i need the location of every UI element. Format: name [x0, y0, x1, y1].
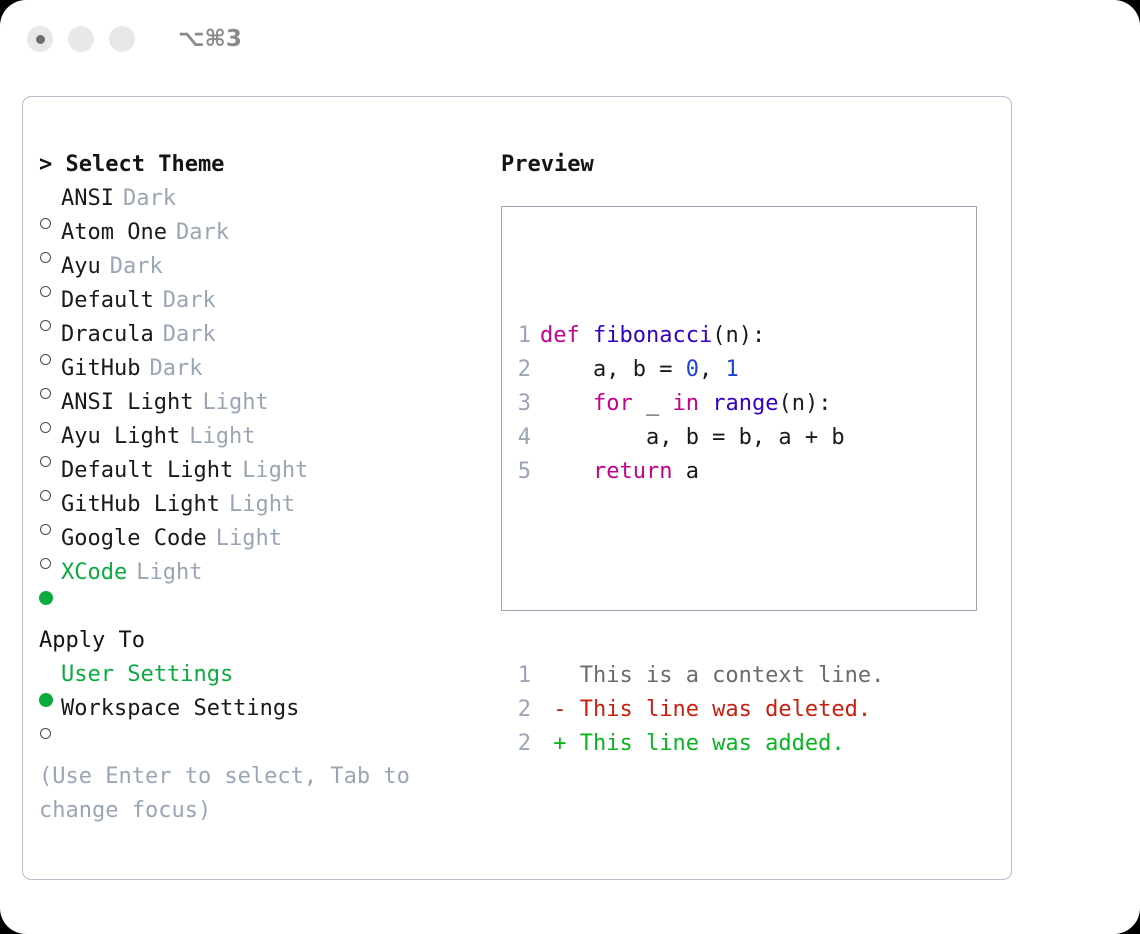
- apply-to-list: User SettingsWorkspace Settings: [39, 658, 489, 726]
- keyboard-shortcut-label: ⌥⌘3: [178, 26, 242, 52]
- theme-option-label: ANSI: [61, 182, 114, 216]
- diff-line: 1 This is a context line.: [502, 659, 976, 693]
- code-token-fn: range: [712, 391, 778, 416]
- code-token-pl: a, b = b, a + b: [540, 425, 845, 450]
- code-token-kw: in: [672, 391, 699, 416]
- theme-option-tag: Light: [136, 556, 202, 590]
- main-panel: > Select Theme ANSIDarkAtom OneDarkAyuDa…: [22, 96, 1012, 880]
- section-spacer: [39, 590, 489, 624]
- app-window: ⌥⌘3 > Select Theme ANSIDarkAtom OneDarkA…: [0, 0, 1140, 934]
- apply-to-heading: Apply To: [39, 624, 489, 658]
- diff-lines: 1 This is a context line.2 - This line w…: [502, 659, 976, 761]
- theme-option-label: GitHub Light: [61, 488, 220, 522]
- code-token-pl: [540, 459, 593, 484]
- diff-line-number: 1: [502, 659, 540, 693]
- code-sample: 1def fibonacci(n):2 a, b = 0, 13 for _ i…: [502, 251, 976, 829]
- diff-line-number: 2: [502, 727, 540, 761]
- theme-option-tag: Light: [242, 454, 308, 488]
- theme-option-label: Default: [61, 284, 154, 318]
- code-token-kw: for: [593, 391, 633, 416]
- code-line-number: 3: [502, 387, 540, 421]
- radio-ring: [40, 456, 51, 467]
- code-line: 4 a, b = b, a + b: [502, 421, 976, 455]
- code-token-num: 1: [725, 357, 738, 382]
- theme-option-tag: Dark: [163, 284, 216, 318]
- code-token-num: 0: [686, 357, 699, 382]
- code-line-text: a, b = 0, 1: [540, 353, 739, 387]
- code-token-pl: a, b =: [540, 357, 686, 382]
- code-line-number: 1: [502, 319, 540, 353]
- select-theme-heading: > Select Theme: [39, 148, 489, 182]
- apply-to-option-label: Workspace Settings: [61, 692, 299, 726]
- code-token-pl: a: [672, 459, 699, 484]
- keyboard-hint-text: (Use Enter to select, Tab to change focu…: [39, 760, 459, 828]
- theme-option-label: Ayu: [61, 250, 101, 284]
- code-token-pl: (n):: [778, 391, 831, 416]
- code-line: 1def fibonacci(n):: [502, 319, 976, 353]
- theme-option-label: XCode: [61, 556, 127, 590]
- code-line: 3 for _ in range(n):: [502, 387, 976, 421]
- diff-line: 2 - This line was deleted.: [502, 693, 976, 727]
- preview-column: Preview 1def fibonacci(n):2 a, b = 0, 13…: [501, 148, 1001, 611]
- code-token-kw: return: [593, 459, 672, 484]
- diff-line-text: This is a context line.: [540, 659, 884, 693]
- radio-ring: [40, 728, 51, 739]
- window-dot-active-inner: [36, 35, 45, 44]
- theme-option[interactable]: AyuDark: [39, 250, 489, 284]
- theme-option-tag: Light: [216, 522, 282, 556]
- code-line-number: 4: [502, 421, 540, 455]
- code-token-kw: def: [540, 323, 593, 348]
- theme-option-tag: Dark: [176, 216, 229, 250]
- theme-option-tag: Dark: [149, 352, 202, 386]
- theme-option[interactable]: XCodeLight: [39, 556, 489, 590]
- theme-option[interactable]: ANSI LightLight: [39, 386, 489, 420]
- diff-line-text: + This line was added.: [540, 727, 845, 761]
- code-token-pl: [699, 391, 712, 416]
- radio-ring: [40, 388, 51, 399]
- theme-option-label: Default Light: [61, 454, 233, 488]
- code-line-number: 5: [502, 455, 540, 489]
- radio-ring: [40, 252, 51, 263]
- window-titlebar: ⌥⌘3: [0, 0, 1140, 78]
- window-dot-3[interactable]: [109, 26, 135, 52]
- theme-option[interactable]: GitHub LightLight: [39, 488, 489, 522]
- apply-to-option-label: User Settings: [61, 658, 233, 692]
- theme-option-tag: Dark: [110, 250, 163, 284]
- code-lines: 1def fibonacci(n):2 a, b = 0, 13 for _ i…: [502, 319, 976, 489]
- theme-option-label: ANSI Light: [61, 386, 193, 420]
- code-line-text: def fibonacci(n):: [540, 319, 765, 353]
- code-line: 2 a, b = 0, 1: [502, 353, 976, 387]
- apply-to-option[interactable]: User Settings: [39, 658, 489, 692]
- theme-option-label: Dracula: [61, 318, 154, 352]
- theme-option-label: Atom One: [61, 216, 167, 250]
- code-blank-line: [502, 557, 976, 591]
- apply-to-option[interactable]: Workspace Settings: [39, 692, 489, 726]
- radio-ring: [40, 422, 51, 433]
- code-token-pl: (n):: [712, 323, 765, 348]
- theme-option-tag: Light: [202, 386, 268, 420]
- theme-option-label: Ayu Light: [61, 420, 180, 454]
- diff-line: 2 + This line was added.: [502, 727, 976, 761]
- theme-picker-column: > Select Theme ANSIDarkAtom OneDarkAyuDa…: [39, 148, 489, 828]
- window-dot-active[interactable]: [27, 26, 53, 52]
- preview-heading: Preview: [501, 148, 1001, 182]
- theme-option-label: Google Code: [61, 522, 207, 556]
- code-token-pl: ,: [699, 357, 726, 382]
- code-token-pl: [540, 391, 593, 416]
- code-line: 5 return a: [502, 455, 976, 489]
- theme-option[interactable]: Default LightLight: [39, 454, 489, 488]
- code-line-text: for _ in range(n):: [540, 387, 831, 421]
- theme-option[interactable]: DraculaDark: [39, 318, 489, 352]
- diff-line-text: - This line was deleted.: [540, 693, 871, 727]
- theme-option-tag: Dark: [163, 318, 216, 352]
- theme-option[interactable]: GitHubDark: [39, 352, 489, 386]
- theme-option[interactable]: ANSIDark: [39, 182, 489, 216]
- theme-list: ANSIDarkAtom OneDarkAyuDarkDefaultDarkDr…: [39, 182, 489, 590]
- code-line-text: a, b = b, a + b: [540, 421, 845, 455]
- diff-line-number: 2: [502, 693, 540, 727]
- theme-option[interactable]: DefaultDark: [39, 284, 489, 318]
- theme-option[interactable]: Ayu LightLight: [39, 420, 489, 454]
- code-token-pl: _: [633, 391, 673, 416]
- theme-option-tag: Light: [189, 420, 255, 454]
- radio-ring: [40, 320, 51, 331]
- radio-ring: [40, 524, 51, 535]
- theme-option-tag: Light: [229, 488, 295, 522]
- radio-dot: [39, 591, 53, 605]
- code-line-number: 2: [502, 353, 540, 387]
- radio-ring: [40, 490, 51, 501]
- theme-option-tag: Dark: [123, 182, 176, 216]
- radio-ring: [40, 354, 51, 365]
- radio-ring: [40, 558, 51, 569]
- window-dot-2[interactable]: [68, 26, 94, 52]
- theme-option[interactable]: Atom OneDark: [39, 216, 489, 250]
- theme-option-label: GitHub: [61, 352, 140, 386]
- theme-option[interactable]: Google CodeLight: [39, 522, 489, 556]
- code-line-text: return a: [540, 455, 699, 489]
- preview-box: 1def fibonacci(n):2 a, b = 0, 13 for _ i…: [501, 206, 977, 611]
- code-token-fn: fibonacci: [593, 323, 712, 348]
- radio-ring: [40, 218, 51, 229]
- radio-dot: [39, 693, 53, 707]
- radio-ring: [40, 286, 51, 297]
